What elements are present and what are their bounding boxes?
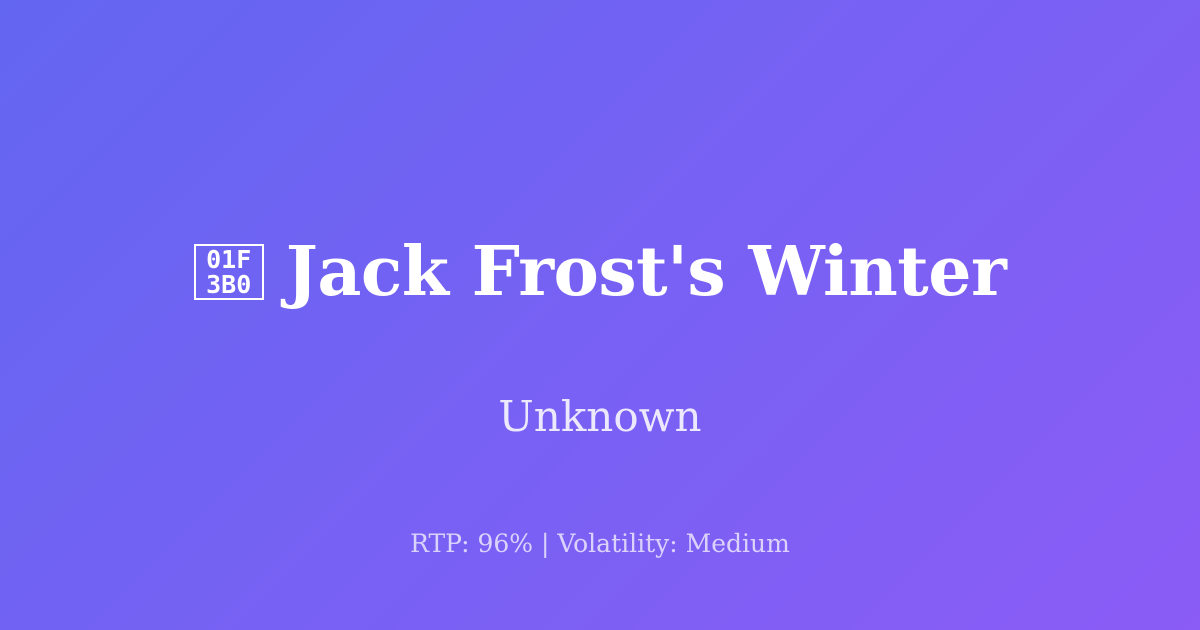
game-preview-card: 01F 3B0 Jack Frost's Winter Unknown RTP:…: [0, 0, 1200, 630]
slot-machine-icon: 01F 3B0: [194, 244, 264, 300]
title-row: 01F 3B0 Jack Frost's Winter: [194, 192, 1007, 351]
page-title: Jack Frost's Winter: [286, 238, 1007, 306]
slot-machine-icon-codepoint-high: 01F: [206, 247, 251, 272]
slot-machine-icon-codepoint-low: 3B0: [206, 272, 251, 297]
game-stats-line: RTP: 96% | Volatility: Medium: [0, 531, 1200, 556]
provider-subtitle: Unknown: [498, 396, 701, 438]
